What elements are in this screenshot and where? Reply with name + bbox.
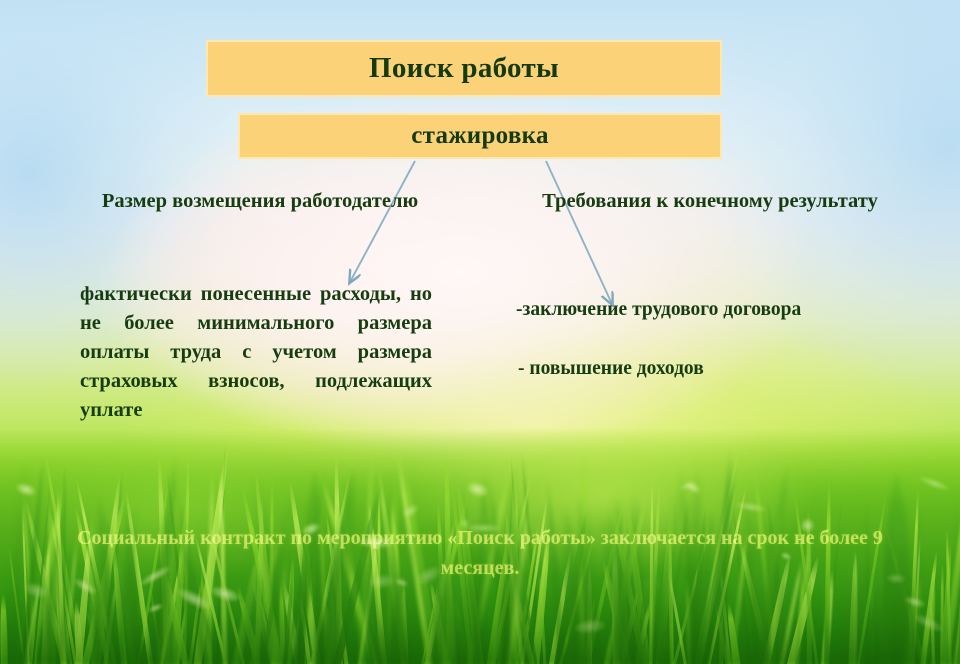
grass-blade-foreground bbox=[20, 455, 45, 664]
grass-blade bbox=[278, 582, 286, 664]
grass-blade bbox=[715, 595, 733, 664]
grass-blade bbox=[187, 580, 202, 664]
grass-blade bbox=[8, 546, 27, 664]
grass-blade bbox=[904, 571, 923, 664]
grass-blade bbox=[658, 603, 671, 664]
grass-blade bbox=[285, 587, 310, 664]
grass-blade bbox=[362, 597, 377, 664]
grass-blade bbox=[14, 574, 35, 664]
grass-seedhead bbox=[905, 595, 926, 609]
subtitle-box[interactable]: стажировка bbox=[238, 113, 722, 159]
grass-blade bbox=[31, 486, 51, 664]
grass-blade bbox=[401, 573, 409, 664]
grass-seedhead bbox=[574, 618, 605, 635]
grass-blade bbox=[912, 536, 921, 664]
grass-blade bbox=[945, 529, 951, 664]
grass-blade bbox=[419, 575, 442, 664]
grass-blade-foreground bbox=[930, 542, 946, 664]
grass-seedhead bbox=[175, 585, 212, 612]
footer-note: Социальный контракт по мероприятию «Поис… bbox=[60, 523, 900, 583]
grass-blade bbox=[428, 580, 452, 664]
grass-blade bbox=[20, 485, 38, 664]
grass-blade bbox=[632, 600, 652, 664]
grass-blade bbox=[920, 549, 940, 664]
grass-blade bbox=[325, 602, 334, 664]
grass-seedhead bbox=[23, 581, 48, 601]
grass-blade-foreground bbox=[7, 449, 29, 664]
grass-blade bbox=[22, 506, 31, 664]
grass-blade bbox=[617, 588, 640, 664]
grass-seedhead bbox=[684, 480, 702, 496]
grass-blade-foreground bbox=[38, 530, 62, 664]
grass-blade bbox=[84, 605, 106, 664]
grass-blade bbox=[102, 578, 118, 664]
grass-blade bbox=[301, 585, 307, 664]
grass-blade bbox=[940, 542, 953, 664]
grass-blade bbox=[323, 605, 331, 664]
grass-blade bbox=[434, 590, 445, 664]
grass-blade bbox=[685, 578, 692, 664]
grass-blade bbox=[725, 602, 742, 664]
grass-blade bbox=[719, 602, 724, 664]
grass-blade bbox=[868, 570, 874, 664]
grass-blade bbox=[581, 596, 596, 664]
grass-blade bbox=[42, 587, 53, 664]
grass-blade bbox=[919, 603, 934, 664]
grass-blade-foreground bbox=[38, 558, 59, 664]
grass-blade bbox=[908, 488, 920, 664]
slide-canvas: Поиск работы стажировка Размер возмещени… bbox=[0, 0, 960, 664]
grass-blade bbox=[255, 573, 258, 664]
grass-blade bbox=[43, 545, 57, 664]
grass-blade bbox=[952, 587, 960, 664]
grass-seedhead bbox=[400, 502, 420, 520]
grass-blade bbox=[952, 495, 960, 664]
grass-blade bbox=[580, 577, 585, 664]
grass-blade bbox=[21, 579, 42, 664]
grass-seedhead bbox=[918, 475, 949, 493]
grass-blade bbox=[954, 478, 960, 664]
grass-seedhead bbox=[147, 602, 163, 613]
grass-blade bbox=[433, 573, 455, 664]
grass-blade bbox=[234, 584, 265, 664]
left-column-body-text: фактически понесенные расходы, но не бол… bbox=[80, 280, 432, 426]
grass-blade bbox=[430, 603, 448, 664]
grass-blade bbox=[46, 486, 60, 664]
grass-blade bbox=[41, 532, 52, 664]
grass-seedhead bbox=[15, 481, 38, 498]
grass-blade bbox=[512, 584, 537, 664]
grass-blade bbox=[931, 574, 935, 664]
title-box[interactable]: Поиск работы bbox=[206, 40, 722, 97]
arrow-to-left-column bbox=[350, 161, 415, 282]
grass-blade bbox=[299, 596, 313, 664]
grass-blade bbox=[820, 569, 836, 664]
grass-blade bbox=[538, 572, 547, 664]
right-column-heading: Требования к конечному результату bbox=[535, 188, 885, 215]
grass-blade bbox=[940, 563, 944, 664]
right-column-bullet-1: -заключение трудового договора bbox=[516, 299, 801, 321]
grass-blade bbox=[175, 606, 187, 664]
grass-blade bbox=[714, 606, 732, 664]
grass-blade bbox=[0, 593, 8, 664]
right-column-bullet-2: - повышение доходов bbox=[518, 358, 704, 380]
grass-blade bbox=[368, 605, 386, 664]
grass-blade bbox=[907, 596, 913, 664]
grass-seedhead bbox=[913, 612, 945, 635]
grass-blade-foreground bbox=[914, 498, 922, 664]
grass-blade bbox=[150, 589, 164, 664]
left-column-heading: Размер возмещения работодателю bbox=[95, 188, 425, 215]
grass-seedhead bbox=[679, 481, 697, 492]
grass-blade bbox=[941, 502, 960, 664]
grass-blade-foreground bbox=[955, 512, 960, 664]
grass-blade bbox=[954, 456, 960, 664]
grass-seedhead bbox=[209, 584, 240, 604]
grass-blade bbox=[117, 578, 151, 664]
grass-seedhead bbox=[735, 500, 766, 513]
grass-blade bbox=[451, 595, 469, 664]
grass-blade bbox=[249, 574, 279, 664]
grass-blade bbox=[774, 601, 786, 664]
grass-blade bbox=[445, 572, 458, 664]
grass-blade bbox=[128, 570, 135, 664]
grass-blade bbox=[152, 587, 174, 664]
grass-blade bbox=[73, 601, 84, 664]
grass-seedhead bbox=[465, 480, 489, 499]
grass-blade bbox=[330, 586, 338, 664]
grass-blade bbox=[929, 598, 935, 664]
grass-blade bbox=[280, 581, 303, 664]
grass-blade bbox=[470, 588, 478, 664]
arrow-to-right-column bbox=[546, 161, 612, 304]
